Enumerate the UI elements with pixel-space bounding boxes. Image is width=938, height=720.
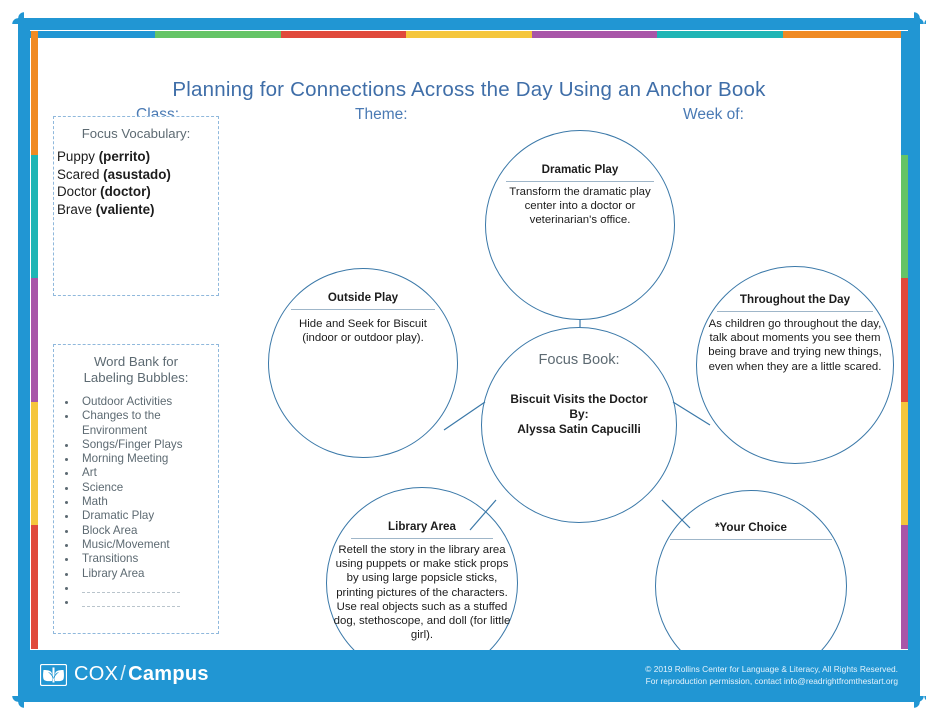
list-item: Library Area — [78, 567, 218, 581]
open-book-icon — [40, 664, 67, 686]
vocabulary-spanish: (asustado) — [103, 167, 171, 182]
worksheet-sheet: Planning for Connections Across the Day … — [30, 30, 908, 650]
cox-campus-logo[interactable]: COX/Campus — [40, 663, 209, 686]
week-of-field-label: Week of: — [683, 106, 744, 124]
copyright-notice: © 2019 Rollins Center for Language & Lit… — [645, 664, 898, 687]
logo-cox-text: COX — [74, 663, 118, 685]
color-segment — [901, 155, 908, 279]
word-bank-box: Word Bank for Labeling Bubbles: Outdoor … — [53, 344, 219, 634]
vocabulary-item: Puppy (perrito) — [57, 148, 218, 166]
color-strip-right — [901, 31, 908, 649]
bubble-body-text: Transform the dramatic play center into … — [496, 185, 664, 228]
color-segment — [901, 525, 908, 649]
list-item: Math — [78, 495, 218, 509]
list-item: Songs/Finger Plays — [78, 438, 218, 452]
list-item: Dramatic Play — [78, 509, 218, 523]
focus-vocabulary-box: Focus Vocabulary: Puppy (perrito) Scared… — [53, 116, 219, 296]
bubble-heading-rule — [670, 539, 832, 540]
list-item: Outdoor Activities — [78, 395, 218, 409]
color-strip-left — [31, 31, 38, 649]
vocabulary-item: Brave (valiente) — [57, 201, 218, 219]
word-bank-heading: Word Bank for Labeling Bubbles: — [54, 354, 218, 386]
color-segment — [155, 31, 280, 38]
bubble-body-text: Retell the story in the library area usi… — [333, 543, 511, 642]
vocabulary-english: Scared — [57, 167, 103, 182]
color-segment — [31, 525, 38, 649]
color-segment — [31, 31, 38, 155]
logo-campus-text: Campus — [128, 663, 209, 685]
color-segment — [783, 31, 908, 38]
bubble-focus-book[interactable]: Focus Book: Biscuit Visits the Doctor By… — [481, 327, 677, 523]
focus-vocabulary-list: Puppy (perrito) Scared (asustado) Doctor… — [57, 148, 218, 218]
list-item: Art — [78, 466, 218, 480]
vocabulary-spanish: (perrito) — [99, 149, 150, 164]
theme-field-label: Theme: — [355, 106, 408, 124]
vocabulary-item: Doctor (doctor) — [57, 183, 218, 201]
color-segment — [31, 155, 38, 279]
worksheet-page: Planning for Connections Across the Day … — [0, 0, 938, 720]
list-item: Transitions — [78, 552, 218, 566]
list-item: Changes to the Environment — [78, 409, 218, 438]
bubble-dramatic-play[interactable]: Dramatic Play Transform the dramatic pla… — [485, 130, 675, 320]
bubble-heading: Outside Play — [269, 291, 457, 304]
blank-write-in-rule[interactable] — [82, 597, 180, 607]
color-segment — [901, 402, 908, 526]
vocabulary-item: Scared (asustado) — [57, 166, 218, 184]
vocabulary-english: Doctor — [57, 184, 100, 199]
word-bank-blank-line[interactable] — [78, 595, 218, 609]
list-item: Science — [78, 481, 218, 495]
bubble-heading-rule — [291, 309, 435, 310]
vocabulary-english: Brave — [57, 202, 96, 217]
color-strip-top — [30, 31, 908, 38]
color-segment — [281, 31, 406, 38]
vocabulary-spanish: (doctor) — [100, 184, 151, 199]
bubble-your-choice[interactable]: *Your Choice — [655, 490, 847, 650]
bubble-heading-rule — [351, 538, 493, 539]
bubble-heading: *Your Choice — [656, 521, 846, 534]
logo-wordmark: COX/Campus — [74, 663, 209, 686]
color-segment — [31, 278, 38, 402]
color-segment — [406, 31, 531, 38]
word-bank-heading-line1: Word Bank for — [54, 354, 218, 370]
page-footer: COX/Campus © 2019 Rollins Center for Lan… — [18, 650, 920, 702]
bubble-heading-rule — [717, 311, 873, 312]
scallop-edge-top — [12, 12, 926, 24]
page-title: Planning for Connections Across the Day … — [30, 78, 908, 102]
color-segment — [30, 31, 155, 38]
scallop-edge-right — [914, 12, 926, 708]
bubble-throughout-the-day[interactable]: Throughout the Day As children go throug… — [696, 266, 894, 464]
bubble-heading: Focus Book: — [482, 352, 676, 368]
copyright-line-1: © 2019 Rollins Center for Language & Lit… — [645, 664, 898, 676]
bubble-heading-rule — [506, 181, 654, 182]
bubble-body-text: As children go throughout the day, talk … — [705, 317, 885, 374]
bubble-heading: Throughout the Day — [697, 293, 893, 306]
copyright-line-2: For reproduction permission, contact inf… — [645, 676, 898, 688]
word-bank-list: Outdoor Activities Changes to the Enviro… — [54, 395, 218, 609]
vocabulary-english: Puppy — [57, 149, 99, 164]
list-item: Block Area — [78, 524, 218, 538]
color-segment — [657, 31, 782, 38]
color-segment — [901, 278, 908, 402]
scallop-edge-left — [12, 12, 24, 708]
blank-write-in-rule[interactable] — [82, 583, 180, 593]
bubble-outside-play[interactable]: Outside Play Hide and Seek for Biscuit (… — [268, 268, 458, 458]
bubble-heading: Dramatic Play — [486, 163, 674, 176]
color-segment — [31, 402, 38, 526]
vocabulary-spanish: (valiente) — [96, 202, 155, 217]
bubble-library-area[interactable]: Library Area Retell the story in the lib… — [326, 487, 518, 650]
word-bank-heading-line2: Labeling Bubbles: — [54, 370, 218, 386]
focus-vocabulary-heading: Focus Vocabulary: — [54, 126, 218, 142]
list-item: Morning Meeting — [78, 452, 218, 466]
bubble-heading: Library Area — [327, 520, 517, 533]
color-segment — [901, 31, 908, 155]
color-segment — [532, 31, 657, 38]
bubble-body-text: Hide and Seek for Biscuit (indoor or out… — [281, 317, 445, 345]
bubble-body-text: Biscuit Visits the Doctor By: Alyssa Sat… — [492, 392, 666, 437]
list-item: Music/Movement — [78, 538, 218, 552]
word-bank-blank-line[interactable] — [78, 581, 218, 595]
